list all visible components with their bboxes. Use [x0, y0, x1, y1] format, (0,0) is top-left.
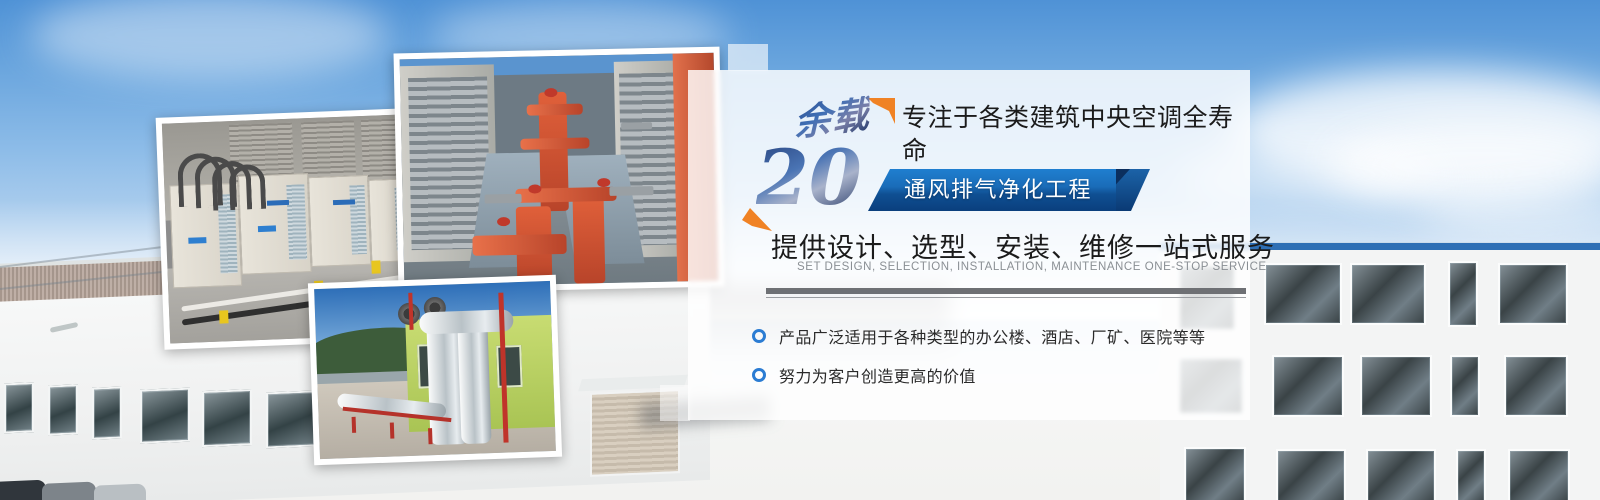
- window: [1366, 449, 1436, 500]
- ring-bullet-icon: [752, 329, 766, 343]
- photo-pipe-clip: [371, 261, 380, 274]
- window: [266, 390, 316, 448]
- parked-car: [0, 480, 46, 500]
- divider-thick: [766, 288, 1246, 294]
- window: [1508, 449, 1570, 500]
- window: [1184, 447, 1246, 500]
- photo-flange: [484, 194, 522, 204]
- photo-red-pipework: [394, 47, 725, 294]
- photo-hvac-unit: [308, 175, 371, 267]
- photo-refrigerant-hose: [228, 164, 266, 210]
- hvac-promo-banner: 余载 20 专注于各类建筑中央空调全寿命 周期整体解决方案 通风排气净化工程 提…: [0, 0, 1600, 500]
- benefit-list: 产品广泛适用于各种类型的办公楼、酒店、厂矿、医院等等 努力为客户创造更高的价值: [752, 316, 1252, 394]
- window: [1456, 449, 1486, 500]
- photo-red-pipe: [472, 234, 567, 256]
- photo-valve-handwheel: [528, 184, 541, 193]
- photo-unit-label: [188, 237, 206, 244]
- window: [1498, 263, 1568, 325]
- photo-duct-riser: [457, 324, 492, 444]
- window: [1350, 263, 1426, 325]
- ring-bullet-icon: [752, 368, 766, 382]
- divider-thin: [766, 297, 1246, 298]
- panel-accent-chip: [728, 44, 768, 71]
- photo-pipe-support: [428, 428, 433, 444]
- window: [1264, 263, 1342, 325]
- wall-lamp: [50, 322, 78, 333]
- photo-valve-handwheel: [597, 178, 610, 187]
- window: [1504, 355, 1568, 417]
- photo-content: [314, 281, 556, 459]
- photo-pipe-clip: [219, 310, 228, 323]
- service-ribbon: 通风排气净化工程: [868, 169, 1150, 211]
- parked-car: [42, 482, 96, 500]
- photo-unit-badge: [267, 200, 289, 206]
- window: [202, 389, 252, 447]
- photo-flange: [621, 122, 653, 130]
- window: [1276, 449, 1346, 500]
- window: [1360, 355, 1432, 417]
- list-item-label: 努力为客户创造更高的价值: [779, 363, 976, 387]
- ribbon-label: 通风排气净化工程: [904, 169, 1092, 211]
- photo-pipe-support: [352, 417, 357, 433]
- window: [140, 388, 190, 444]
- parked-car: [94, 483, 146, 500]
- list-item: 努力为客户创造更高的价值: [752, 355, 1252, 394]
- window: [1450, 355, 1480, 417]
- window: [48, 384, 78, 435]
- photo-valve-handwheel: [497, 217, 510, 226]
- photo-flange: [610, 186, 654, 196]
- photo-unit-grille: [349, 185, 367, 254]
- window: [92, 386, 122, 439]
- years-number: 20: [756, 140, 862, 216]
- photo-pipe-support: [390, 422, 395, 438]
- photo-unit-label: [257, 226, 275, 233]
- photo-insulated-ductwork: [308, 275, 562, 466]
- headline-line-1: 专注于各类建筑中央空调全寿命: [902, 102, 1252, 168]
- window: [1448, 261, 1478, 327]
- photo-unit-badge: [333, 200, 355, 206]
- window: [4, 382, 34, 433]
- panel-accent-chip: [660, 385, 690, 421]
- photo-red-pipe: [526, 103, 583, 116]
- subline-english: SET DESIGN, SELECTION, INSTALLATION, MAI…: [797, 261, 1257, 273]
- photo-red-pipe: [521, 137, 590, 150]
- list-item: 产品广泛适用于各种类型的办公楼、酒店、厂矿、医院等等: [752, 316, 1252, 355]
- photo-unit-grille: [286, 184, 306, 260]
- subline-chinese: 提供设计、选型、安装、维修一站式服务: [771, 226, 1241, 265]
- photo-content: [400, 53, 719, 288]
- window: [1272, 355, 1344, 417]
- list-item-label: 产品广泛适用于各种类型的办公楼、酒店、厂矿、医院等等: [779, 324, 1205, 348]
- photo-red-pipe: [572, 196, 605, 283]
